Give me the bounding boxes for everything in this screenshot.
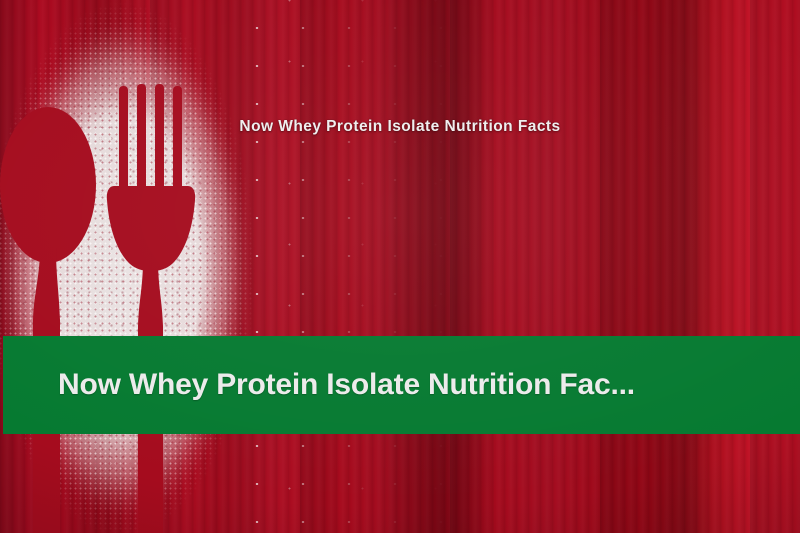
vignette-overlay: [0, 0, 800, 533]
image-canvas: Now Whey Protein Isolate Nutrition Facts…: [0, 0, 800, 533]
